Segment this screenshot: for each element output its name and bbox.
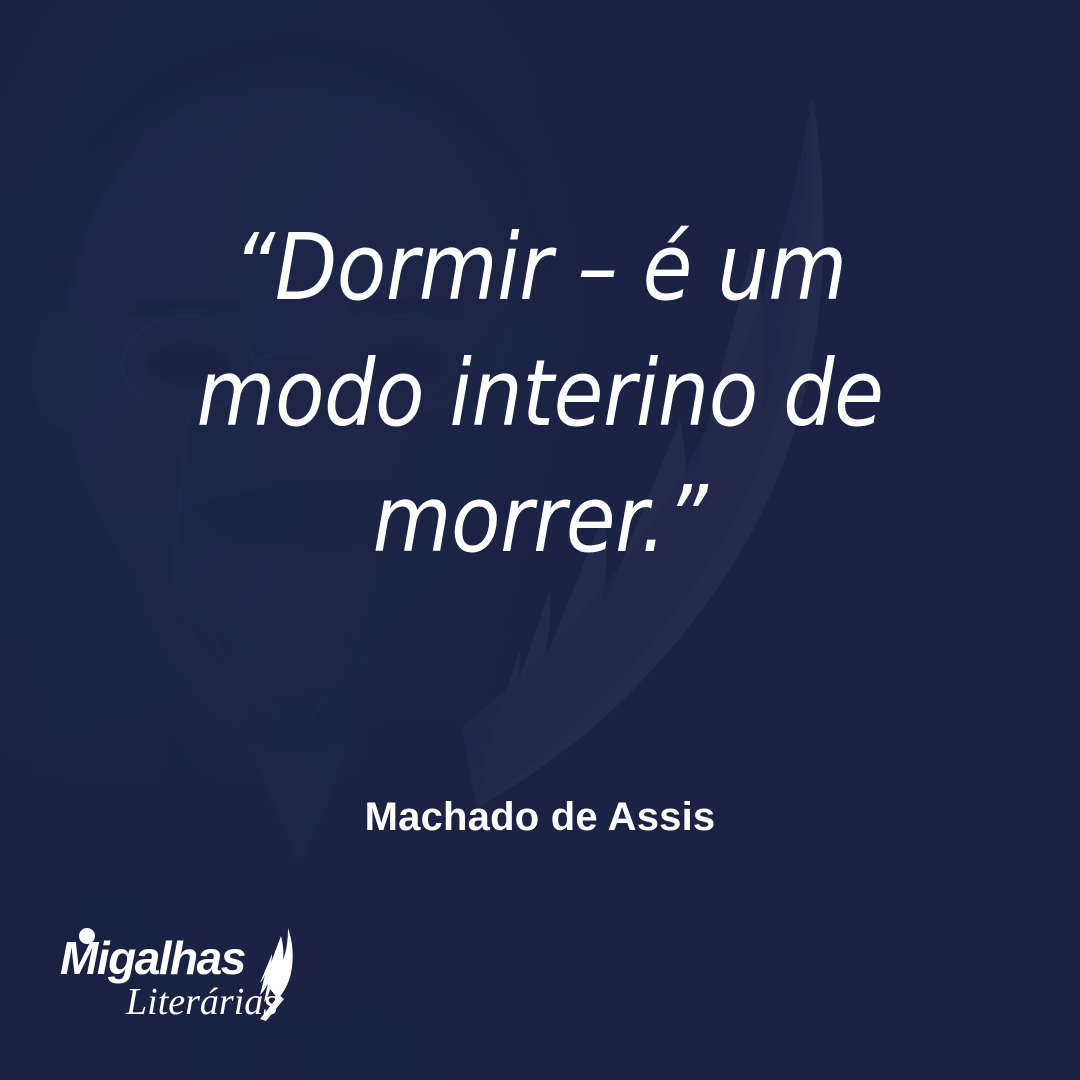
migalhas-literarias-logo[interactable]: Migalhas Literárias (60, 926, 340, 1022)
quote-card: “Dormir – é um modo interino de morrer.”… (0, 0, 1080, 1080)
quote-line-2: modo interino de (128, 331, 952, 457)
author-name: Machado de Assis (0, 795, 1080, 840)
logo-m-dot-icon (79, 928, 95, 944)
quote-text-block: “Dormir – é um modo interino de morrer.” (0, 205, 1080, 583)
quote-line-1: “Dormir – é um (128, 205, 952, 331)
logo-subbrand-text: Literárias (125, 981, 278, 1022)
quote-line-3: morrer.” (128, 457, 952, 583)
logo-artwork: Migalhas Literárias (60, 926, 340, 1022)
